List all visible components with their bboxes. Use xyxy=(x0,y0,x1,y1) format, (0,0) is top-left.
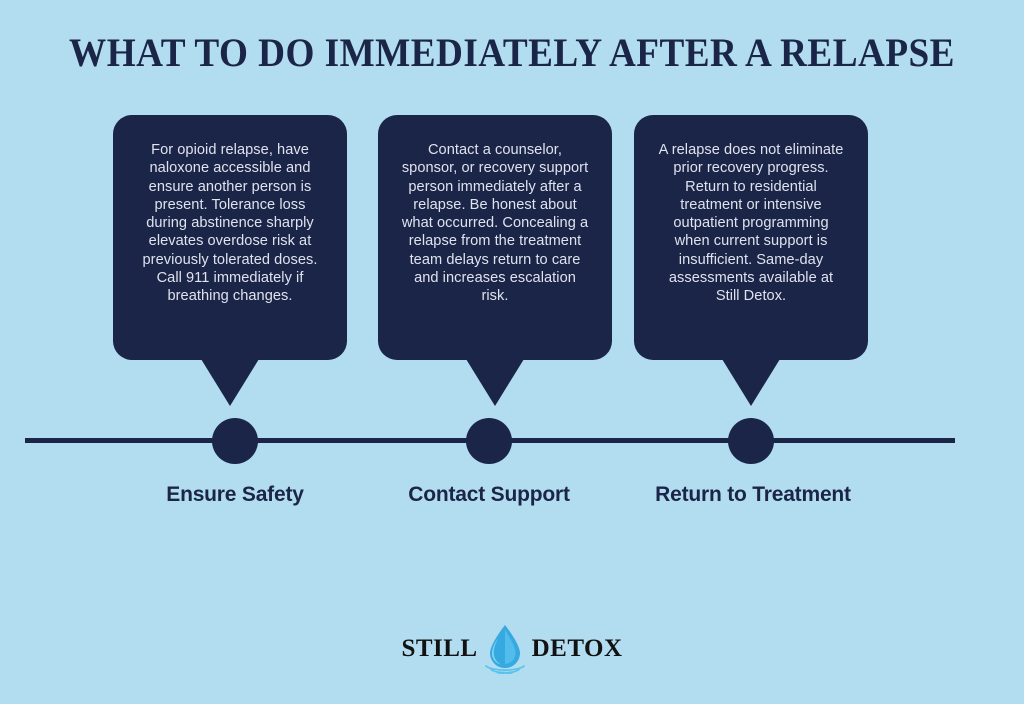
step-card-1: For opioid relapse, have naloxone access… xyxy=(113,115,347,360)
step-card-2-pointer xyxy=(466,359,524,406)
brand-logo: STILL DETOX xyxy=(0,620,1024,676)
infographic-canvas: WHAT TO DO IMMEDIATELY AFTER A RELAPSE F… xyxy=(0,0,1024,704)
step-card-1-pointer xyxy=(201,359,259,406)
step-card-3-text: A relapse does not eliminate prior recov… xyxy=(656,141,846,306)
step-card-1-body: For opioid relapse, have naloxone access… xyxy=(113,115,347,360)
step-card-3-body: A relapse does not eliminate prior recov… xyxy=(634,115,868,360)
logo-word-right: DETOX xyxy=(532,636,623,661)
cards-row: For opioid relapse, have naloxone access… xyxy=(0,115,1024,415)
page-title: WHAT TO DO IMMEDIATELY AFTER A RELAPSE xyxy=(36,30,988,76)
step-card-3: A relapse does not eliminate prior recov… xyxy=(634,115,868,360)
timeline-label-3: Return to Treatment xyxy=(593,483,913,507)
timeline-node-1 xyxy=(212,418,258,464)
step-card-2-body: Contact a counselor, sponsor, or recover… xyxy=(378,115,612,360)
step-card-2-text: Contact a counselor, sponsor, or recover… xyxy=(400,141,590,306)
logo-word-left: STILL xyxy=(401,636,477,661)
step-card-2: Contact a counselor, sponsor, or recover… xyxy=(378,115,612,360)
timeline-node-2 xyxy=(466,418,512,464)
water-drop-icon xyxy=(482,622,528,674)
step-card-1-text: For opioid relapse, have naloxone access… xyxy=(135,141,325,306)
step-card-3-pointer xyxy=(722,359,780,406)
timeline-node-3 xyxy=(728,418,774,464)
